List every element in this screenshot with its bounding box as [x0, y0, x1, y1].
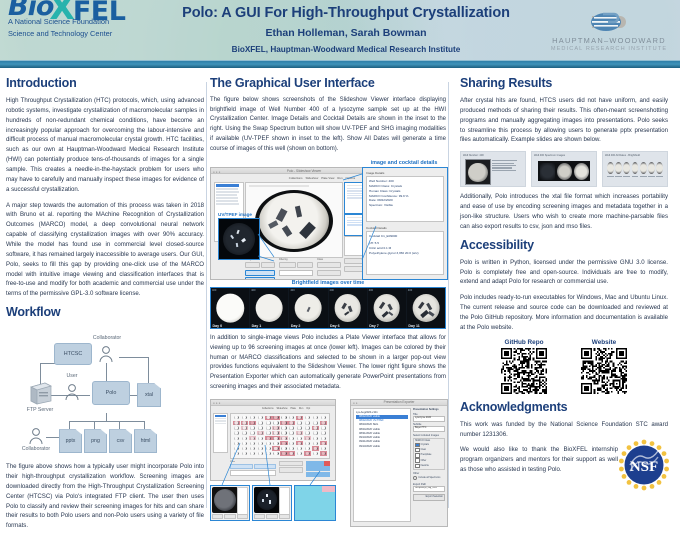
plate-run-item-selected[interactable]: [215, 415, 226, 417]
plate-well[interactable]: [312, 421, 319, 425]
plate-well[interactable]: [241, 451, 248, 455]
plate-well[interactable]: [272, 451, 279, 455]
exporter-marco-group[interactable]: MARCO Class Crystals Clear: [413, 438, 445, 470]
wf-output-png: png: [84, 429, 107, 453]
plate-well[interactable]: [320, 451, 327, 455]
plate-well[interactable]: [312, 451, 319, 455]
plate-well-image: [297, 442, 302, 445]
wf-node-user-icon: [64, 383, 80, 401]
brightfield-cell[interactable]: 400 Day 2: [289, 288, 328, 328]
plate-well[interactable]: [257, 451, 264, 455]
plate-well-image: [242, 431, 247, 434]
plate-well[interactable]: [288, 431, 295, 435]
plate-well[interactable]: [288, 421, 295, 425]
exporter-checkbox-other[interactable]: Other: [415, 458, 443, 462]
plate-well[interactable]: [233, 416, 240, 420]
bf-day-label: Day 0: [213, 324, 223, 328]
plate-prev-button[interactable]: [230, 464, 253, 469]
next-button[interactable]: [261, 262, 276, 268]
qr-code-github[interactable]: [501, 348, 547, 394]
filter-input[interactable]: [279, 270, 313, 276]
plate-well[interactable]: [265, 441, 272, 445]
plate-well[interactable]: [280, 426, 287, 430]
section-heading-introduction: Introduction: [6, 76, 204, 90]
example-slide-3[interactable]: Well 400 All Dates - Brightfield: [602, 151, 668, 187]
plate-next-button[interactable]: [254, 464, 277, 469]
exporter-window-title: Presentation Exporter: [351, 400, 447, 404]
plate-well-image: [234, 431, 239, 434]
plate-well-image: [313, 431, 318, 434]
qr-code-website[interactable]: [581, 348, 627, 394]
plate-well-image: [266, 421, 271, 424]
cocktail-detail-peg: Polyethylene glycol 3,350 20.0 (w/v): [369, 251, 441, 256]
plate-well-image: [258, 426, 263, 429]
plate-well-image: [258, 416, 263, 419]
plate-well-image: [281, 421, 286, 424]
popout-inset-heatmap[interactable]: [294, 485, 336, 521]
plate-well-image: [289, 421, 294, 424]
plate-well-image: [297, 426, 302, 429]
presentation-exporter-window[interactable]: ●● Presentation Exporter Lys-Aug2020-v1b…: [350, 399, 448, 527]
plate-well-image: [281, 416, 286, 419]
plate-well-grid[interactable]: [233, 416, 327, 456]
plate-well[interactable]: [233, 426, 240, 430]
section-heading-workflow: Workflow: [6, 305, 204, 319]
plate-well[interactable]: [304, 431, 311, 435]
plate-well[interactable]: [233, 441, 240, 445]
plate-well[interactable]: [320, 436, 327, 440]
introduction-paragraph-1: High Throughput Crystallization (HTC) pr…: [6, 96, 204, 195]
plate-run-item[interactable]: [215, 418, 226, 420]
example-slide-2-caption: Well 400 Spectrum Images: [534, 154, 565, 157]
run-list-item[interactable]: [216, 200, 238, 202]
popout-details-bf: [237, 487, 248, 515]
bioxfel-tagline-line2: Science and Technology Center: [8, 29, 148, 39]
wf-output-html-label: html: [141, 438, 151, 444]
toolbar-item-collections[interactable]: Collections: [289, 176, 303, 180]
plate-well[interactable]: [265, 451, 272, 455]
plate-well[interactable]: [241, 436, 248, 440]
nav-controls-group[interactable]: Navigation: [245, 258, 275, 276]
plate-well-image: [305, 442, 310, 445]
plate-viewer-window[interactable]: ●●● Collections Slideshow Plate Run Opt: [210, 399, 336, 481]
plate-toolbar-item[interactable]: Run: [299, 407, 303, 411]
plate-well[interactable]: [288, 441, 295, 445]
plate-well[interactable]: [312, 436, 319, 440]
plate-jump-input[interactable]: [230, 470, 276, 475]
uv-spot: [241, 238, 246, 243]
plate-well[interactable]: [288, 426, 295, 430]
callout-label-image-cocktail: image and cocktail details: [362, 160, 446, 166]
bf-day-label: Day 6: [330, 324, 340, 328]
exporter-checkbox-favorite[interactable]: Favorite: [415, 464, 443, 468]
filter-button-b[interactable]: [297, 262, 314, 268]
section-heading-acknowledgments: Acknowledgments: [452, 400, 676, 414]
middle-column: The Graphical User Interface The figure …: [210, 70, 446, 529]
plate-well[interactable]: [249, 436, 256, 440]
plate-well[interactable]: [233, 431, 240, 435]
poster-authors: Ethan Holleman, Sarah Bowman: [150, 27, 542, 39]
plate-well[interactable]: [272, 431, 279, 435]
plate-filter-button[interactable]: [279, 467, 303, 472]
plate-well[interactable]: [280, 451, 287, 455]
bf-crystal: [387, 303, 392, 310]
plate-well[interactable]: [233, 421, 240, 425]
qr-block-website: Website: [581, 339, 627, 394]
plate-well[interactable]: [265, 421, 272, 425]
plate-well[interactable]: [304, 436, 311, 440]
uv-spot: [230, 235, 234, 239]
plate-well-image: [313, 437, 318, 440]
slide-image-row: [538, 161, 590, 181]
plate-well[interactable]: [257, 431, 264, 435]
bf-day-label: Day 2: [291, 324, 301, 328]
plate-well[interactable]: [249, 431, 256, 435]
classification-controls-group[interactable]: Class: [317, 258, 341, 276]
plate-well-image: [266, 437, 271, 440]
exporter-run-tree[interactable]: Lys-Aug2020-v1b1 08/22/2020 visible 08/2…: [353, 408, 411, 522]
plate-well[interactable]: [312, 416, 319, 420]
plate-well[interactable]: [280, 441, 287, 445]
plate-well-image: [242, 452, 247, 455]
plate-well-image: [297, 431, 302, 434]
slide-image-strip: [607, 162, 663, 174]
slide-image: [465, 159, 491, 185]
plate-well-image: [321, 442, 326, 445]
checkbox-icon[interactable]: [415, 458, 419, 462]
plate-well[interactable]: [233, 436, 240, 440]
bf-day-label: Day 7: [369, 324, 379, 328]
plate-well[interactable]: [288, 416, 295, 420]
plate-well-image: [250, 426, 255, 429]
plate-well-image: [305, 437, 310, 440]
plate-well-image: [289, 426, 294, 429]
plate-well[interactable]: [241, 431, 248, 435]
plate-well-image: [297, 416, 302, 419]
plate-well[interactable]: [296, 426, 303, 430]
popout-inset-brightfield[interactable]: [210, 485, 250, 521]
wf-node-htcsc-label: HTCSC: [64, 351, 83, 357]
image-cocktail-details-panel[interactable]: Image Details Well Number: 400 MARCO Cla…: [362, 167, 448, 280]
plate-well[interactable]: [249, 416, 256, 420]
example-slide-1[interactable]: Well Number: 400: [460, 151, 526, 187]
plate-well-image: [313, 442, 318, 445]
class-button-clear[interactable]: [317, 270, 341, 276]
plate-well[interactable]: [265, 416, 272, 420]
exporter-checkbox-all-spectrums[interactable]: Include all Spectrums: [413, 476, 445, 480]
plate-well-image: [305, 421, 310, 424]
toolbar-item-slideshow[interactable]: Slideshow: [305, 176, 318, 180]
plate-well[interactable]: [304, 426, 311, 430]
qr-row: GitHub Repo Website: [452, 339, 676, 394]
plate-well[interactable]: [320, 446, 327, 450]
plate-well[interactable]: [280, 421, 287, 425]
plate-well[interactable]: [257, 436, 264, 440]
wf-edge-out-4: [144, 421, 145, 429]
exporter-export-button[interactable]: Export Selection: [413, 494, 445, 501]
wf-node-htcsc: HTCSC: [54, 343, 92, 365]
wf-edge-xtal-collab: [119, 357, 149, 358]
poster-header: BioXFEL A National Science Foundation Sc…: [0, 0, 680, 68]
plate-toolbar-item[interactable]: Collections: [262, 407, 274, 411]
plate-well[interactable]: [257, 446, 264, 450]
plate-well-image: [258, 437, 263, 440]
exporter-checkbox-other-label: Other: [421, 460, 427, 462]
plate-well[interactable]: [288, 446, 295, 450]
plate-well[interactable]: [272, 426, 279, 430]
plate-well[interactable]: [241, 426, 248, 430]
plate-well[interactable]: [312, 441, 319, 445]
plate-well[interactable]: [241, 416, 248, 420]
plate-well[interactable]: [296, 446, 303, 450]
prev-button[interactable]: [245, 262, 260, 268]
plate-color-button[interactable]: [279, 461, 303, 466]
swap-spectrum-button[interactable]: [245, 270, 275, 276]
plate-well[interactable]: [265, 431, 272, 435]
exporter-tree-item[interactable]: 09/13/2020 visible: [356, 445, 408, 449]
checkbox-icon[interactable]: [415, 448, 419, 452]
exporter-checkbox-precipitate[interactable]: Precipitate: [415, 453, 443, 457]
plate-well[interactable]: [272, 436, 279, 440]
toolbar-item-plate-view[interactable]: Plate View: [321, 176, 334, 180]
plate-well[interactable]: [304, 441, 311, 445]
slide-caption-strip: [607, 176, 663, 179]
checkbox-icon[interactable]: [415, 443, 419, 447]
plate-well[interactable]: [257, 421, 264, 425]
plate-well[interactable]: [241, 446, 248, 450]
bf-day-label: Day 11: [408, 324, 419, 328]
plate-well[interactable]: [280, 446, 287, 450]
checkbox-icon[interactable]: [415, 464, 419, 468]
plate-well[interactable]: [312, 431, 319, 435]
wf-node-user-label: User: [54, 373, 90, 379]
plate-well-image: [289, 431, 294, 434]
plate-well[interactable]: [249, 421, 256, 425]
plate-well-image: [281, 431, 286, 434]
exporter-field-title-input[interactable]: Lysozyme 2020: [413, 416, 445, 422]
plate-controls-left[interactable]: Plate: [230, 461, 276, 477]
wf-node-polo-label: Polo: [106, 390, 117, 396]
plate-well[interactable]: [296, 421, 303, 425]
plate-well[interactable]: [304, 416, 311, 420]
lower-figures: ●●● Collections Slideshow Plate Run Opt: [210, 399, 446, 529]
plate-window-controls-icon[interactable]: ●●●: [213, 401, 221, 405]
plate-well-image: [321, 431, 326, 434]
bf-crystal: [428, 311, 434, 316]
plate-well[interactable]: [257, 426, 264, 430]
plate-run-item[interactable]: [215, 420, 226, 422]
exporter-titlebar: ●● Presentation Exporter: [351, 400, 447, 406]
checkbox-icon[interactable]: [415, 453, 419, 457]
run-list-item[interactable]: [216, 191, 239, 193]
plate-well-image: [305, 431, 310, 434]
plate-well[interactable]: [265, 436, 272, 440]
plate-well[interactable]: [320, 416, 327, 420]
plate-well[interactable]: [304, 421, 311, 425]
plate-well-image: [305, 452, 310, 455]
bf-crystal: [388, 311, 393, 316]
exporter-checkbox-clear[interactable]: Clear: [415, 448, 443, 452]
popout-details-uv: [279, 487, 290, 515]
plate-well[interactable]: [296, 441, 303, 445]
qr-caption-github: GitHub Repo: [501, 339, 547, 346]
brightfield-cell[interactable]: 400 Day 11: [407, 288, 445, 328]
run-list-item[interactable]: [216, 203, 239, 205]
brightfield-section: Brightfield images over time 400 Day 0 4…: [210, 280, 446, 329]
wf-edge-polo-outputs: [106, 413, 107, 421]
well-image[interactable]: [255, 190, 333, 252]
exporter-settings: Presentation Settings Title Lysozyme 202…: [413, 408, 445, 501]
radio-icon[interactable]: [413, 476, 417, 480]
plate-well[interactable]: [288, 436, 295, 440]
plate-well-image: [266, 442, 271, 445]
plate-well[interactable]: [320, 431, 327, 435]
bf-crystal: [426, 302, 432, 309]
plate-well[interactable]: [288, 451, 295, 455]
plate-well[interactable]: [249, 426, 256, 430]
qr-block-github: GitHub Repo: [501, 339, 547, 394]
plate-well[interactable]: [233, 446, 240, 450]
popout-image-bf: [212, 487, 238, 513]
class-button-crystals[interactable]: [317, 262, 341, 268]
plate-well-image: [313, 416, 318, 419]
brightfield-cell[interactable]: 400 Day 7: [368, 288, 407, 328]
plate-well[interactable]: [280, 431, 287, 435]
plate-well[interactable]: [296, 451, 303, 455]
plate-toolbar-item[interactable]: Slideshow: [277, 407, 288, 411]
plate-well[interactable]: [257, 441, 264, 445]
poster-root: BioXFEL A National Science Foundation Sc…: [0, 0, 680, 510]
plate-well-image: [281, 442, 286, 445]
plate-controls-mid[interactable]: [279, 461, 303, 477]
run-list-item[interactable]: [216, 197, 238, 199]
brightfield-cell[interactable]: 400 Day 0: [211, 288, 250, 328]
hwi-logo-line1: HAUPTMAN–WOODWARD: [544, 36, 674, 45]
popout-buttons-bf[interactable]: [212, 514, 248, 519]
plate-well[interactable]: [312, 426, 319, 430]
exporter-field-subtitle-input[interactable]: Bayer HTC: [413, 426, 445, 432]
plate-well[interactable]: [296, 431, 303, 435]
plate-well[interactable]: [320, 421, 327, 425]
plate-well[interactable]: [257, 416, 264, 420]
run-list-item[interactable]: [216, 194, 237, 196]
brightfield-cell[interactable]: 400 Day 1: [250, 288, 289, 328]
run-list-item[interactable]: [216, 188, 238, 190]
plate-well[interactable]: [304, 446, 311, 450]
slide-text-block: [492, 160, 520, 171]
plate-run-item[interactable]: [215, 423, 226, 425]
callout-label-brightfield: Brightfield images over time: [210, 280, 446, 286]
sort-controls-label: Filtering: [279, 258, 313, 261]
brightfield-time-strip[interactable]: 400 Day 0 400 Day 1 400 Day: [210, 287, 446, 329]
plate-well[interactable]: [265, 426, 272, 430]
plate-minimap[interactable]: [306, 461, 330, 477]
plate-well-image: [281, 452, 286, 455]
plate-well[interactable]: [272, 421, 279, 425]
plate-well[interactable]: [272, 446, 279, 450]
brightfield-cell[interactable]: 400 Day 6: [329, 288, 368, 328]
cocktail-details-header: Cocktail Details: [366, 226, 444, 230]
bf-drop: [256, 294, 283, 322]
toolbar-item-options[interactable]: Options: [346, 176, 356, 180]
plate-well[interactable]: [265, 446, 272, 450]
plate-well-image: [313, 452, 318, 455]
uv-tpef-inset-image[interactable]: [218, 218, 260, 260]
wf-node-collaborator-bottom-icon: [28, 427, 44, 445]
exporter-checkbox-crystals[interactable]: Crystals: [415, 443, 443, 447]
plate-well-image: [273, 431, 278, 434]
plate-well[interactable]: [296, 416, 303, 420]
popout-inset-uvtpef[interactable]: [252, 485, 292, 521]
plate-well[interactable]: [296, 436, 303, 440]
left-column: Introduction High Throughput Crystalliza…: [6, 70, 204, 537]
workflow-diagram: HTCSC Polo xtal: [6, 325, 202, 457]
plate-well[interactable]: [304, 451, 311, 455]
plate-toolbar-item[interactable]: Opt: [306, 407, 310, 411]
title-block: Polo: A GUI For High-Throughput Crystall…: [150, 6, 542, 54]
bf-drop: [373, 294, 400, 322]
plate-well[interactable]: [241, 441, 248, 445]
wf-edge-collab-polo: [106, 363, 107, 381]
exporter-field-path-input[interactable]: /srv/polo/Lys_img_2020: [413, 486, 445, 492]
wf-node-xtal: xtal: [137, 383, 161, 407]
plate-toolbar-item[interactable]: Plate: [290, 407, 295, 411]
run-list-item-selected[interactable]: [216, 184, 239, 187]
plate-well-image: [266, 447, 271, 450]
plate-well[interactable]: [320, 426, 327, 430]
plate-well[interactable]: [320, 441, 327, 445]
plate-well[interactable]: [312, 446, 319, 450]
plate-well-image: [234, 421, 239, 424]
plate-well[interactable]: [249, 441, 256, 445]
plate-well-image: [305, 416, 310, 419]
toolbar-item-run[interactable]: Run: [337, 176, 342, 180]
plate-run-list[interactable]: [213, 413, 228, 453]
plate-well-image: [289, 452, 294, 455]
plate-well[interactable]: [241, 421, 248, 425]
plate-well[interactable]: [280, 436, 287, 440]
plate-well[interactable]: [249, 446, 256, 450]
drop-image: [259, 193, 329, 249]
plate-well-image: [250, 452, 255, 455]
page-title: Polo: A GUI For High-Throughput Crystall…: [150, 6, 542, 22]
sharing-paragraph-2: Additionally, Polo introduces the xtal f…: [452, 192, 676, 231]
popout-buttons-uv[interactable]: [254, 514, 290, 519]
wf-output-png-label: png: [91, 438, 100, 444]
plate-well-image: [297, 421, 302, 424]
plate-well[interactable]: [272, 416, 279, 420]
sort-controls-group[interactable]: Filtering: [279, 258, 313, 276]
popout-image-uv: [254, 487, 280, 513]
plate-well[interactable]: [233, 451, 240, 455]
hwi-logo: HAUPTMAN–WOODWARD MEDICAL RESEARCH INSTI…: [544, 11, 674, 52]
plate-well[interactable]: [249, 451, 256, 455]
plate-toolbar[interactable]: Collections Slideshow Plate Run Opt: [239, 407, 333, 411]
plate-well-image: [289, 442, 294, 445]
plate-well-image: [313, 447, 318, 450]
bf-crystal: [348, 305, 352, 311]
example-slide-2[interactable]: Well 400 Spectrum Images: [531, 151, 597, 187]
filter-button-a[interactable]: [279, 262, 296, 268]
plate-grid-panel[interactable]: [230, 413, 330, 459]
section-heading-gui: The Graphical User Interface: [210, 76, 446, 90]
plate-well[interactable]: [272, 441, 279, 445]
poster-affiliation: BioXFEL, Hauptman-Woodward Medical Resea…: [150, 45, 542, 54]
plate-well-image: [273, 442, 278, 445]
plate-well[interactable]: [280, 416, 287, 420]
poster-body: Introduction High Throughput Crystalliza…: [0, 70, 680, 510]
bf-crystal: [307, 306, 311, 311]
